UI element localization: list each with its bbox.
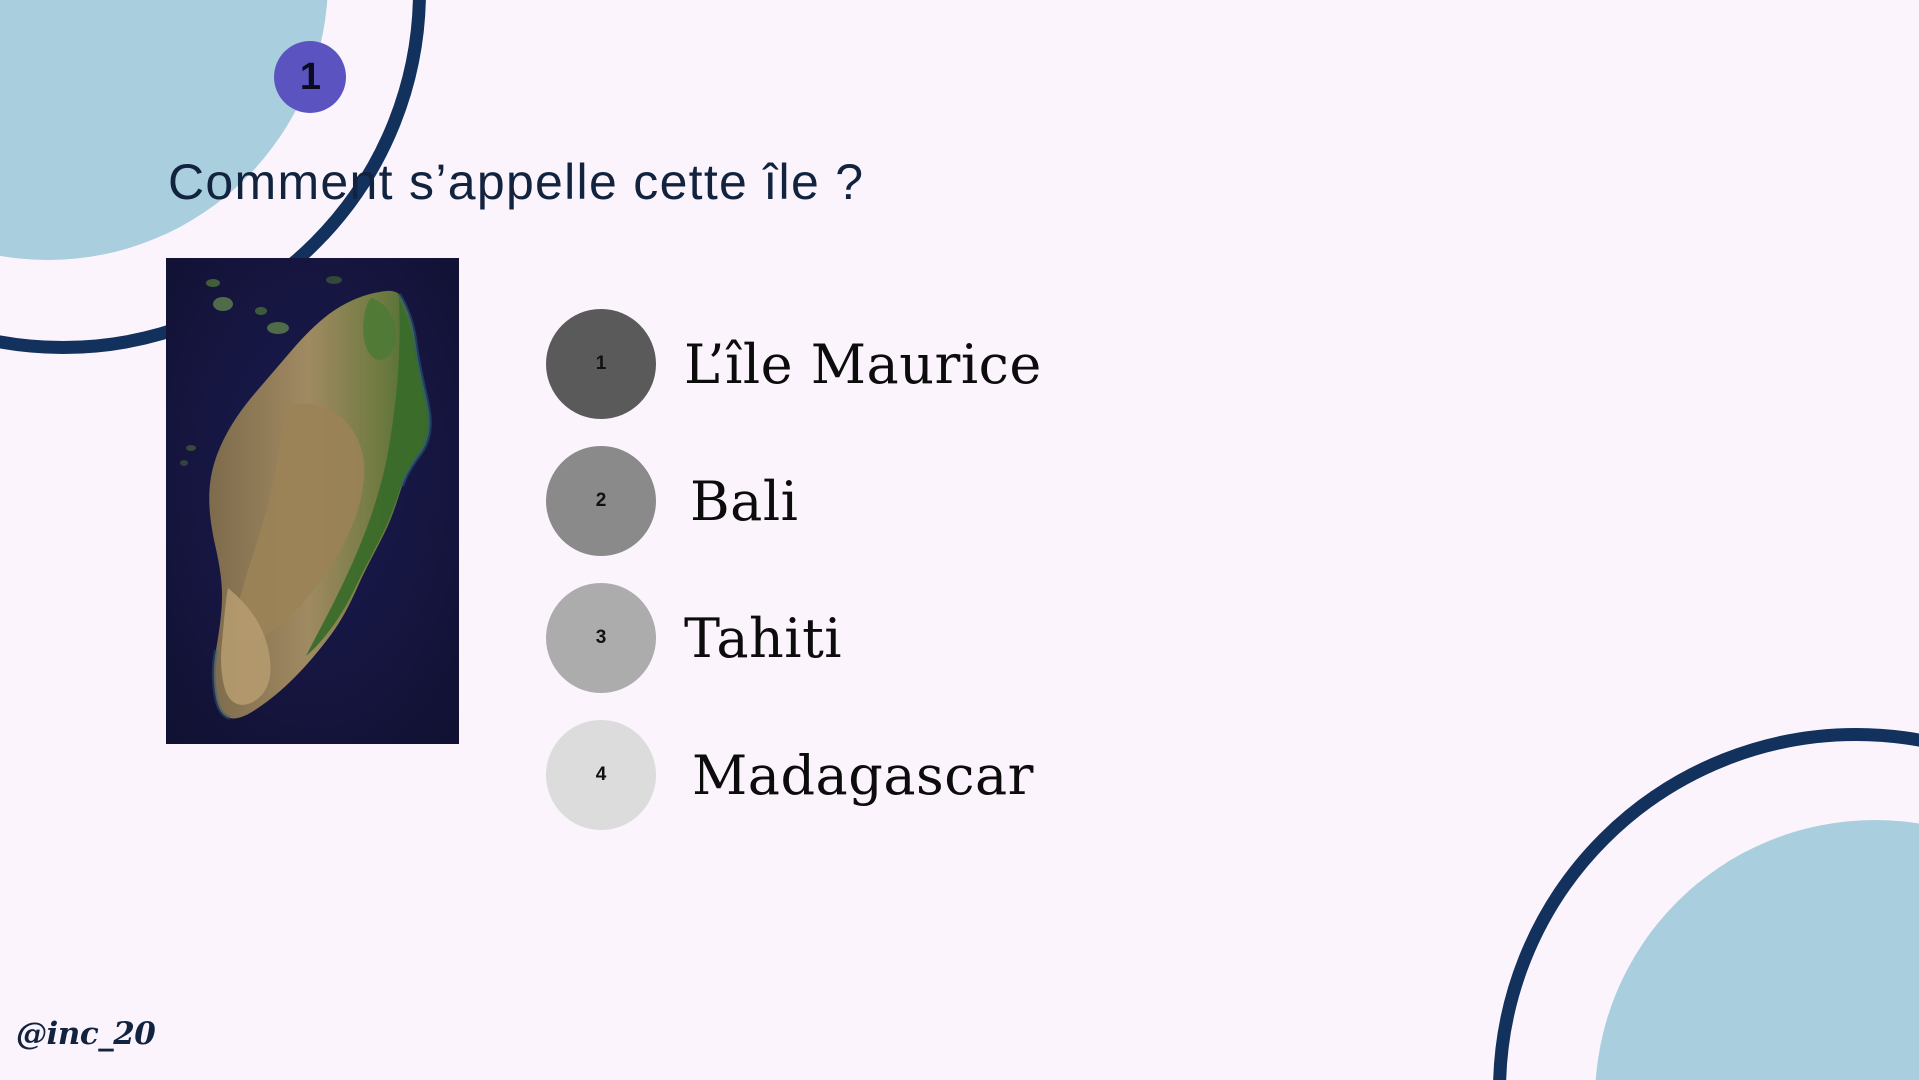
answer-label-3: Tahiti — [684, 607, 842, 670]
answer-option-1[interactable]: 1 L’île Maurice — [546, 309, 1446, 419]
answer-option-4[interactable]: 4 Madagascar — [546, 720, 1446, 830]
answer-label-1: L’île Maurice — [684, 333, 1042, 396]
answer-options-list: 1 L’île Maurice 2 Bali 3 Tahiti 4 Madaga… — [546, 309, 1446, 830]
top-left-blue-blob-decoration — [0, 0, 328, 260]
satellite-map-graphic — [166, 258, 459, 744]
answer-number-1: 1 — [596, 353, 607, 375]
question-number-text: 1 — [300, 56, 320, 99]
bottom-right-blue-blob-decoration — [1595, 820, 1919, 1080]
question-title: Comment s’appelle cette île ? — [168, 153, 864, 211]
quiz-slide: 1 Comment s’appelle cette île ? — [0, 0, 1919, 1080]
answer-label-2: Bali — [690, 470, 798, 533]
answer-bullet-3[interactable]: 3 — [546, 583, 656, 693]
bottom-right-navy-ring-decoration — [1493, 728, 1919, 1080]
watermark-handle: @inc_20 — [16, 1016, 155, 1052]
answer-number-2: 2 — [596, 490, 607, 512]
answer-label-4: Madagascar — [692, 744, 1034, 807]
answer-option-3[interactable]: 3 Tahiti — [546, 583, 1446, 693]
answer-bullet-4[interactable]: 4 — [546, 720, 656, 830]
answer-bullet-1[interactable]: 1 — [546, 309, 656, 419]
island-map-image — [166, 258, 459, 744]
answer-number-4: 4 — [596, 764, 607, 786]
answer-number-3: 3 — [596, 627, 607, 649]
question-number-badge: 1 — [274, 41, 346, 113]
answer-option-2[interactable]: 2 Bali — [546, 446, 1446, 556]
answer-bullet-2[interactable]: 2 — [546, 446, 656, 556]
